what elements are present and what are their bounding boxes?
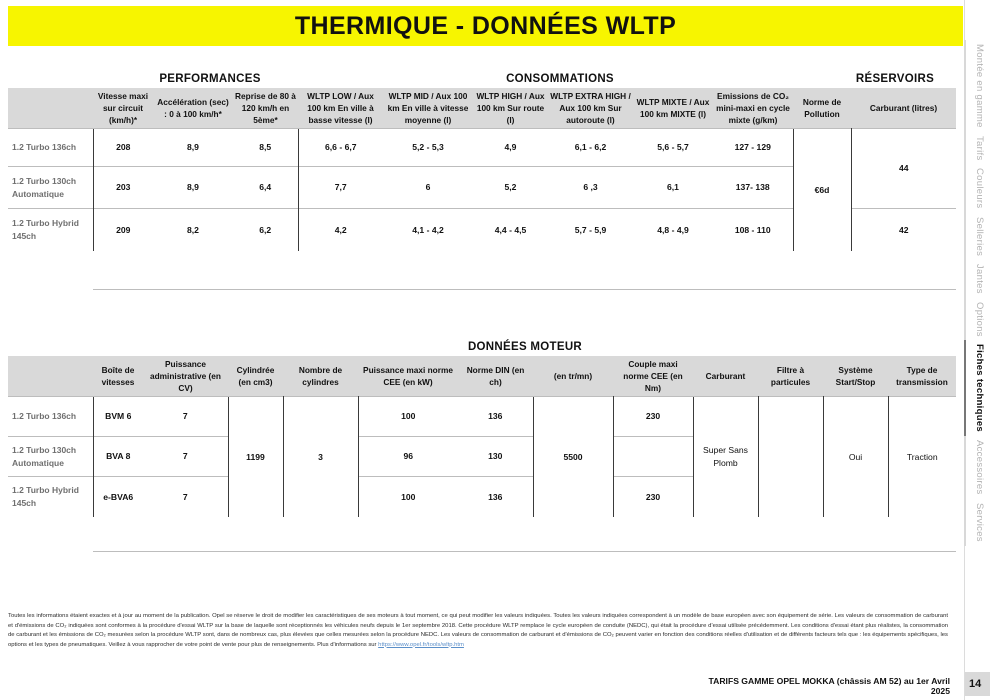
header-reprise: Reprise de 80 à 120 km/h en 5ème*	[233, 88, 298, 129]
cell-reprise-2: 6,4	[233, 167, 298, 209]
cell-reservoir-42: 42	[851, 209, 956, 251]
header-acceleration: Accélération (sec) : 0 à 100 km/h*	[153, 88, 233, 129]
group-label-reservoirs: RÉSERVOIRS	[830, 73, 960, 85]
rail-item-accessoires[interactable]: Accessoires	[964, 436, 990, 499]
header-emissions-co2: Emissions de CO₂ mini-maxi en cycle mixt…	[713, 88, 793, 129]
cell-reprise-3: 6,2	[233, 209, 298, 251]
header-type-transmission: Type de transmission	[888, 356, 956, 397]
cell-cv-2: 7	[143, 437, 228, 477]
header-puissance-maxi-cee: Puissance maxi norme CEE (en kW)	[358, 356, 458, 397]
table1-bottom-rule	[93, 289, 956, 290]
cell-co2-3: 108 - 110	[713, 209, 793, 251]
cell-norme-pollution: €6d	[793, 129, 851, 251]
cell-low-2: 7,7	[298, 167, 383, 209]
cell-vmax-3: 209	[93, 209, 153, 251]
cell-kw-2: 96	[358, 437, 458, 477]
cell-mid-2: 6	[383, 167, 473, 209]
rail-item-couleurs[interactable]: Couleurs	[964, 164, 990, 212]
rail-item-mont-e-en-gamme[interactable]: Montée en gamme	[964, 40, 990, 132]
rail-item-tarifs[interactable]: Tarifs	[964, 132, 990, 165]
cell-extra-2: 6 ,3	[548, 167, 633, 209]
table-row: 1.2 Turbo 136ch BVM 6 7 1199 3 100 136 5…	[8, 397, 956, 437]
cell-vmax-1: 208	[93, 129, 153, 167]
cell-low-3: 4,2	[298, 209, 383, 251]
footnote-text: Toutes les informations étaient exactes …	[8, 613, 948, 648]
rail-item-services[interactable]: Services	[964, 499, 990, 546]
document-section-rail: Montée en gammeTarifsCouleursSelleriesJa…	[964, 0, 990, 700]
cell-reservoir-44: 44	[851, 129, 956, 209]
header-puissance-administrative: Puissance administrative (en CV)	[143, 356, 228, 397]
header-norme-pollution: Norme de Pollution	[793, 88, 851, 129]
cell-kw-3: 100	[358, 477, 458, 517]
header-wltp-mixte: WLTP MIXTE / Aux 100 km MIXTE (l)	[633, 88, 713, 129]
cell-low-1: 6,6 - 6,7	[298, 129, 383, 167]
cell-ch-2: 130	[458, 437, 533, 477]
cell-carburant: Super Sans Plomb	[693, 397, 758, 517]
cell-nombre-cylindres: 3	[283, 397, 358, 517]
cell-accel-2: 8,9	[153, 167, 233, 209]
cell-reprise-1: 8,5	[233, 129, 298, 167]
row2-label-turbo-130-auto: 1.2 Turbo 130ch Automatique	[8, 437, 93, 477]
cell-cv-3: 7	[143, 477, 228, 517]
page-number: 14	[969, 678, 981, 690]
row2-label-turbo-hybrid-145: 1.2 Turbo Hybrid 145ch	[8, 477, 93, 517]
header-systeme-start-stop: Système Start/Stop	[823, 356, 888, 397]
header-norme-din: Norme DIN (en ch)	[458, 356, 533, 397]
cell-ch-1: 136	[458, 397, 533, 437]
table-row: 1.2 Turbo 136ch 208 8,9 8,5 6,6 - 6,7 5,…	[8, 129, 956, 167]
cell-co2-1: 127 - 129	[713, 129, 793, 167]
table2-bottom-rule	[93, 551, 956, 552]
header-carburant: Carburant	[693, 356, 758, 397]
header-spacer-2	[8, 356, 93, 397]
cell-extra-1: 6,1 - 6,2	[548, 129, 633, 167]
page-title-banner: THERMIQUE - DONNÉES WLTP	[8, 6, 963, 46]
cell-accel-1: 8,9	[153, 129, 233, 167]
engine-data-table: Boîte de vitesses Puissance administrati…	[8, 356, 956, 517]
rail-item-jantes[interactable]: Jantes	[964, 260, 990, 298]
cell-cylindree: 1199	[228, 397, 283, 517]
cell-mixte-2: 6,1	[633, 167, 713, 209]
cell-extra-3: 5,7 - 5,9	[548, 209, 633, 251]
cell-co2-2: 137- 138	[713, 167, 793, 209]
table-header-row: Vitesse maxi sur circuit (km/h)* Accélér…	[8, 88, 956, 129]
cell-couple-3: 230	[613, 477, 693, 517]
rail-item-selleries[interactable]: Selleries	[964, 213, 990, 260]
header-wltp-high: WLTP HIGH / Aux 100 km Sur route (l)	[473, 88, 548, 129]
cell-mid-3: 4,1 - 4,2	[383, 209, 473, 251]
row-label-turbo-130-auto: 1.2 Turbo 130ch Automatique	[8, 167, 93, 209]
header-cylindree: Cylindrée (en cm3)	[228, 356, 283, 397]
cell-high-2: 5,2	[473, 167, 548, 209]
group-label-performances: PERFORMANCES	[130, 73, 290, 85]
page-title: THERMIQUE - DONNÉES WLTP	[295, 12, 676, 41]
footer-title: TARIFS GAMME OPEL MOKKA (châssis AM 52) …	[700, 676, 950, 696]
row-label-turbo-136: 1.2 Turbo 136ch	[8, 129, 93, 167]
cell-mixte-3: 4,8 - 4,9	[633, 209, 713, 251]
cell-tr-mn: 5500	[533, 397, 613, 517]
header-couple-maxi-cee: Couple maxi norme CEE (en Nm)	[613, 356, 693, 397]
header-wltp-mid: WLTP MID / Aux 100 km En ville à vitesse…	[383, 88, 473, 129]
header-wltp-low: WLTP LOW / Aux 100 km En ville à basse v…	[298, 88, 383, 129]
cell-boite-3: e-BVA6	[93, 477, 143, 517]
cell-ch-3: 136	[458, 477, 533, 517]
row-label-turbo-hybrid-145: 1.2 Turbo Hybrid 145ch	[8, 209, 93, 251]
cell-high-1: 4,9	[473, 129, 548, 167]
rail-item-options[interactable]: Options	[964, 298, 990, 341]
header-tr-mn: (en tr/mn)	[533, 356, 613, 397]
header-filtre-particules: Filtre à particules	[758, 356, 823, 397]
wltp-data-table: Vitesse maxi sur circuit (km/h)* Accélér…	[8, 88, 956, 251]
cell-boite-2: BVA 8	[93, 437, 143, 477]
cell-mid-1: 5,2 - 5,3	[383, 129, 473, 167]
group-label-consommations: CONSOMMATIONS	[420, 73, 700, 85]
cell-couple-1: 230	[613, 397, 693, 437]
cell-filtre-particules	[758, 397, 823, 517]
cell-high-3: 4,4 - 4,5	[473, 209, 548, 251]
cell-couple-2	[613, 437, 693, 477]
rail-item-fiches-techniques[interactable]: Fiches techniques	[964, 340, 990, 436]
header-boite-vitesses: Boîte de vitesses	[93, 356, 143, 397]
cell-transmission: Traction	[888, 397, 956, 517]
cell-cv-1: 7	[143, 397, 228, 437]
group-label-donnees-moteur: DONNÉES MOTEUR	[400, 341, 650, 353]
table-header-row: Boîte de vitesses Puissance administrati…	[8, 356, 956, 397]
cell-start-stop: Oui	[823, 397, 888, 517]
rail-items: Montée en gammeTarifsCouleursSelleriesJa…	[965, 40, 990, 670]
header-wltp-extra-high: WLTP EXTRA HIGH / Aux 100 km Sur autorou…	[548, 88, 633, 129]
legal-footnote: Toutes les informations étaient exactes …	[8, 612, 948, 650]
header-carburant-litres: Carburant (litres)	[851, 88, 956, 129]
cell-vmax-2: 203	[93, 167, 153, 209]
cell-accel-3: 8,2	[153, 209, 233, 251]
wltp-link[interactable]: https://www.opel.fr/tools/wltp.htm	[378, 642, 464, 648]
header-vitesse-maxi: Vitesse maxi sur circuit (km/h)*	[93, 88, 153, 129]
header-nombre-cylindres: Nombre de cylindres	[283, 356, 358, 397]
header-spacer	[8, 88, 93, 129]
row2-label-turbo-136: 1.2 Turbo 136ch	[8, 397, 93, 437]
cell-kw-1: 100	[358, 397, 458, 437]
cell-boite-1: BVM 6	[93, 397, 143, 437]
cell-mixte-1: 5,6 - 5,7	[633, 129, 713, 167]
